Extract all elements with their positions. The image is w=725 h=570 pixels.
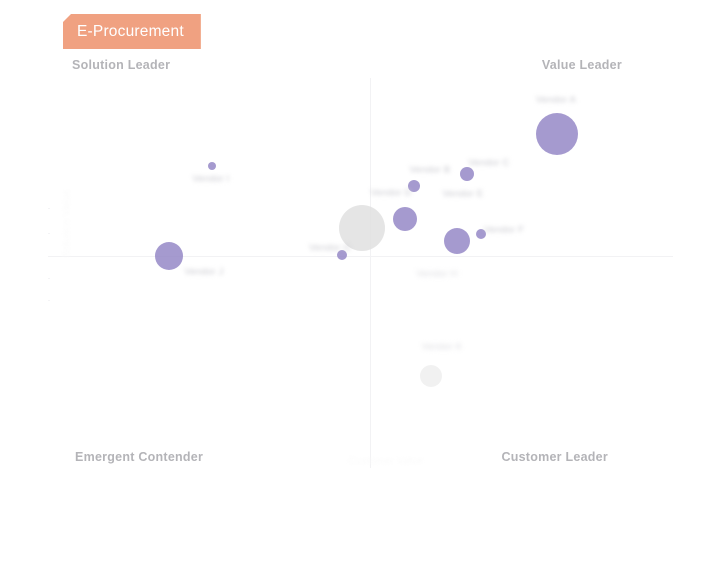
data-point-label: Vendor C [468, 158, 509, 169]
data-point-bubble[interactable] [460, 167, 474, 181]
y-axis-tick [48, 300, 50, 301]
y-axis-tick [48, 233, 50, 234]
y-axis-tick [48, 278, 50, 279]
x-axis-title: Customer Value [316, 456, 456, 467]
y-axis-title: Solution Value [62, 169, 73, 279]
data-point-label: Vendor A [536, 95, 576, 106]
data-point-bubble[interactable] [155, 242, 183, 270]
y-axis-line [370, 78, 371, 468]
data-point-label: Vendor B [410, 165, 451, 176]
solutionmap-chart: E-Procurement Solution Leader Value Lead… [0, 0, 725, 570]
data-point-bubble[interactable] [208, 162, 216, 170]
footer: Spend Matters ® | Solution Map ™ NIMBLE … [0, 482, 725, 570]
data-point-label: Vendor I [193, 174, 230, 185]
x-axis-line [48, 256, 673, 257]
data-point-label: Vendor G [309, 243, 351, 254]
data-point-label: Vendor E [443, 189, 484, 200]
quadrant-label-solution-leader: Solution Leader [72, 58, 170, 72]
data-point-label: Vendor K [422, 342, 463, 353]
data-point-label: Vendor F [484, 225, 524, 236]
data-point-bubble[interactable] [444, 228, 470, 254]
data-point-bubble[interactable] [420, 365, 442, 387]
data-point-bubble[interactable] [536, 113, 578, 155]
plot-area: Customer Value Solution Value [48, 78, 673, 468]
data-point-label: Vendor H [416, 269, 457, 280]
data-point-label: Vendor D [370, 188, 411, 199]
category-badge: E-Procurement [63, 14, 201, 49]
y-axis-tick [48, 208, 50, 209]
data-point-bubble[interactable] [393, 207, 417, 231]
data-point-label: Vendor J [184, 267, 223, 278]
quadrant-label-value-leader: Value Leader [542, 58, 622, 72]
